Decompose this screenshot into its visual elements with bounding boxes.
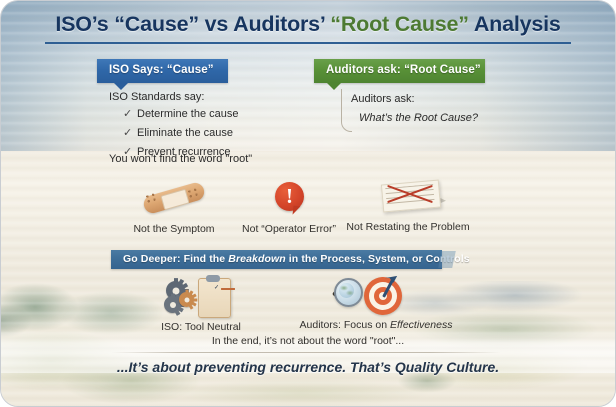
deeper-item-label: ISO: Tool Neutral — [141, 321, 261, 333]
go-deeper-emphasis: Breakdown — [228, 253, 286, 265]
deeper-label-prefix: ISO: Tool Neutral — [161, 321, 241, 333]
alert-exclamation-glyph: ! — [275, 182, 304, 211]
not-item-label: Not Restating the Problem — [338, 221, 478, 233]
bottom-note-text: In the end, it’s not about the word "roo… — [1, 335, 615, 347]
deeper-item-label: Auditors: Focus on Effectiveness — [286, 319, 466, 331]
globe-icon — [339, 283, 354, 298]
iso-lead-text: ISO Standards say: — [109, 91, 284, 103]
check-icon: ✓ — [123, 127, 132, 141]
clipboard-rows: ✓ ✓ ✓ — [203, 286, 225, 310]
not-item-label: Not the Symptom — [124, 223, 224, 235]
check-icon: ✓ — [214, 286, 218, 290]
not-item-restating-problem: Not Restating the Problem — [338, 177, 478, 233]
ribbon-iso-says: ISO Says: “Cause” — [97, 59, 228, 83]
gears-clipboard-icon: ✓ ✓ ✓ — [162, 277, 240, 317]
ribbon-tail-icon — [113, 82, 129, 90]
list-item: ✓ Eliminate the cause — [123, 127, 284, 141]
deeper-item-auditors-effectiveness: Auditors: Focus on Effectiveness — [286, 275, 466, 331]
deeper-label-emphasis: Effectiveness — [390, 319, 452, 331]
page-title-wrap: ISO’s “Cause” vs Auditors’ “Root Cause” … — [1, 13, 615, 44]
ribbon-iso-label: ISO Says: “Cause” — [109, 64, 214, 76]
page-title: ISO’s “Cause” vs Auditors’ “Root Cause” … — [45, 13, 570, 44]
alert-exclamation-icon: ! — [267, 179, 311, 219]
not-item-symptom: Not the Symptom — [124, 179, 224, 235]
not-item-operator-error: ! Not “Operator Error” — [239, 179, 339, 235]
ribbon-auditors-ask: Auditors ask: “Root Cause” — [314, 59, 485, 83]
gear-icon-small — [179, 292, 194, 307]
magnifier-target-icon — [330, 275, 422, 315]
deeper-item-iso-tool-neutral: ✓ ✓ ✓ ISO: Tool Neutral — [141, 277, 261, 333]
clipboard-row-bar — [221, 288, 235, 290]
clipboard-clamp — [206, 275, 220, 282]
iso-checklist: ✓ Determine the cause ✓ Eliminate the ca… — [109, 108, 284, 159]
gear-tooth — [174, 278, 178, 284]
check-icon: ✓ — [123, 108, 132, 122]
crossed-out-note-icon — [372, 177, 444, 217]
ribbon-tail-icon — [326, 82, 342, 90]
list-item: ✓ Determine the cause — [123, 108, 284, 122]
list-item-label: Eliminate the cause — [137, 127, 233, 139]
auditors-line-one: Auditors ask: — [351, 93, 526, 105]
go-deeper-prefix: Go Deeper: Find the — [123, 253, 228, 265]
list-item-label: Determine the cause — [137, 108, 239, 120]
bandage-icon — [141, 179, 207, 219]
infographic-poster: ISO’s “Cause” vs Auditors’ “Root Cause” … — [0, 0, 616, 407]
title-part-analysis: Analysis — [469, 12, 561, 36]
iso-note-text: You won’t find the word "root" — [109, 153, 252, 165]
deeper-label-prefix: Auditors: Focus on — [300, 319, 390, 331]
ribbon-go-deeper: Go Deeper: Find the Breakdown in the Pro… — [111, 250, 442, 269]
title-part-root-cause: “Root Cause” — [330, 12, 469, 36]
not-item-label: Not “Operator Error” — [239, 223, 339, 235]
divider — [111, 352, 501, 353]
auditors-callout-block: Auditors ask: What’s the Root Cause? — [351, 93, 526, 124]
ribbon-auditors-label: Auditors ask: “Root Cause” — [326, 64, 481, 76]
closing-statement: ...It’s about preventing recurrence. Tha… — [1, 359, 615, 375]
auditors-line-two: What’s the Root Cause? — [351, 112, 526, 124]
title-part-one: ISO’s “Cause” vs Auditors’ — [55, 12, 330, 36]
go-deeper-suffix: in the Process, System, or Controls — [286, 253, 470, 265]
